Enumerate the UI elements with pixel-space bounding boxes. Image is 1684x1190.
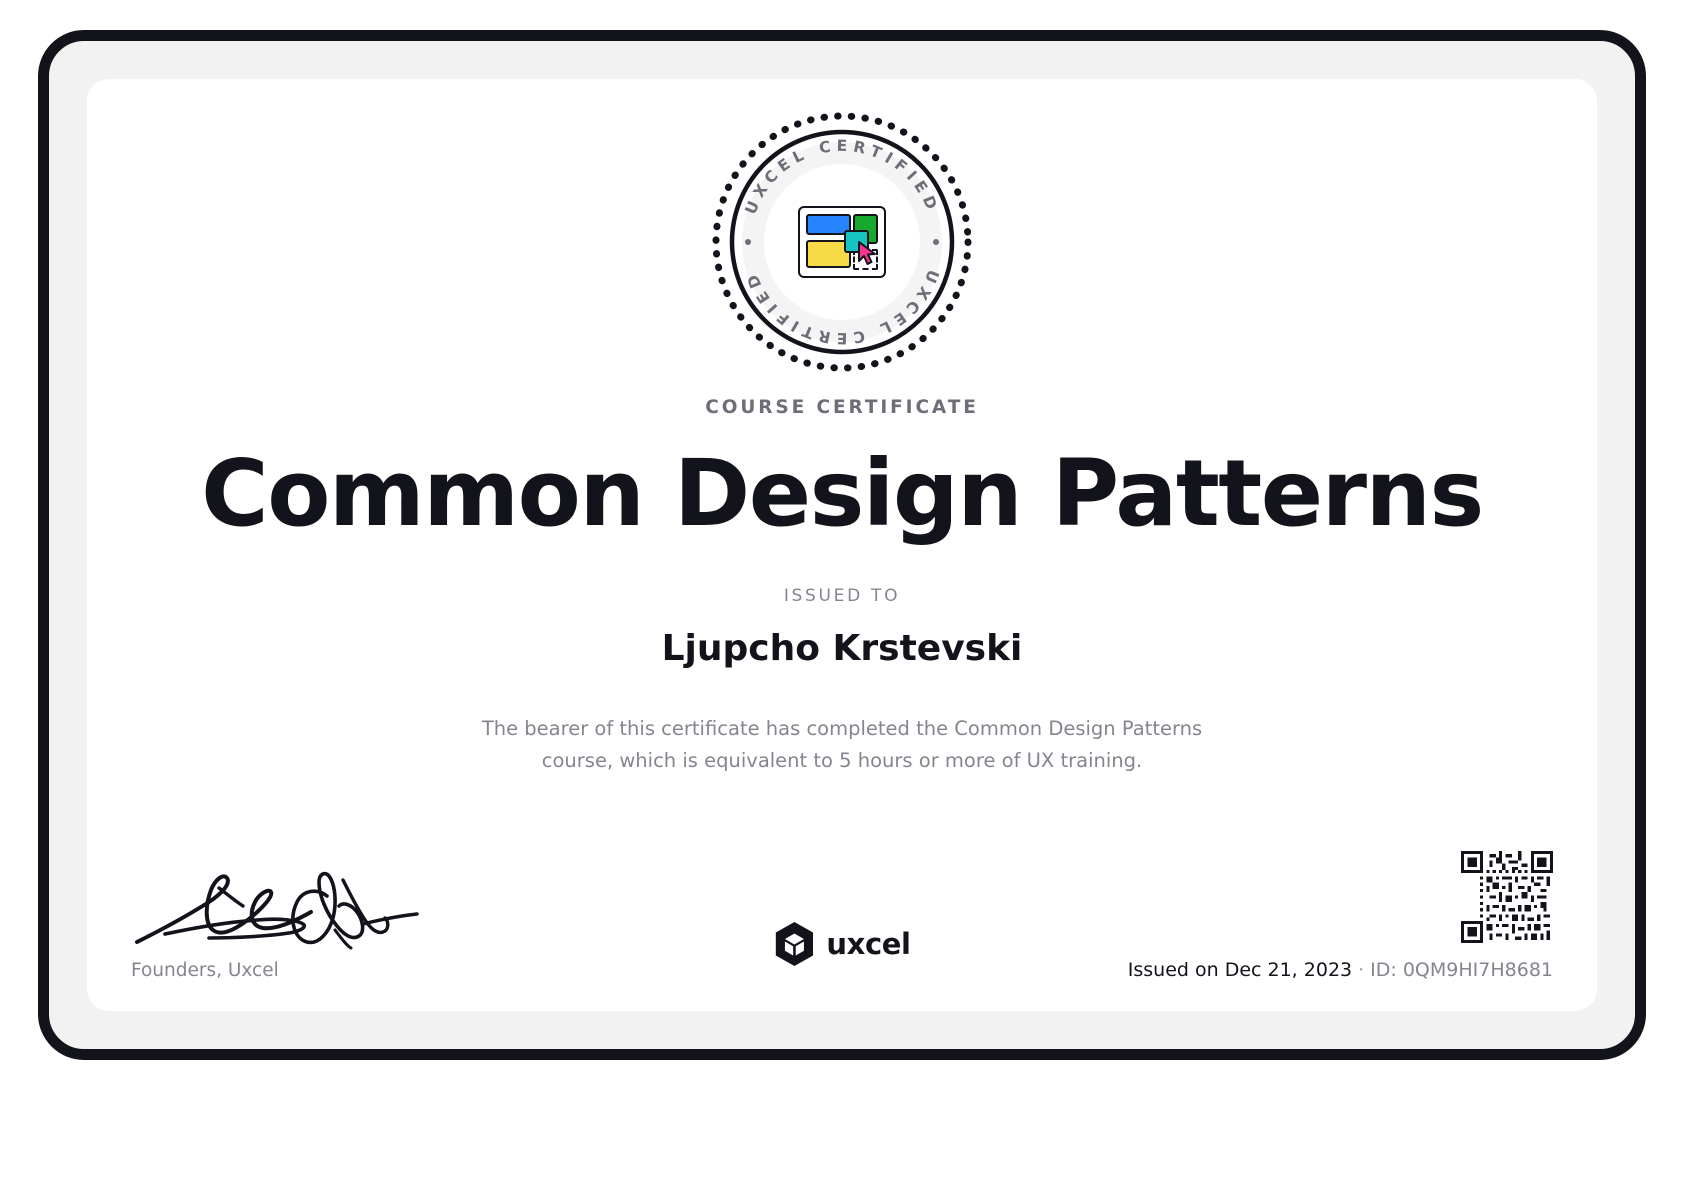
qr-code-icon	[1461, 851, 1553, 943]
signature-marks	[131, 868, 551, 950]
uxcel-cube-logo	[773, 921, 815, 967]
certificate-frame: UXCEL CERTIFIED UXCEL CERTIFIED	[38, 30, 1646, 1060]
signature-block: Founders, Uxcel	[131, 868, 551, 981]
certificate-description: The bearer of this certificate has compl…	[462, 713, 1222, 778]
issued-on-text: Issued on Dec 21, 2023	[1128, 959, 1352, 981]
recipient-name: Ljupcho Krstevski	[87, 628, 1597, 669]
signature-caption: Founders, Uxcel	[131, 960, 551, 981]
certificate-root: UXCEL CERTIFIED UXCEL CERTIFIED	[0, 0, 1684, 1190]
issued-to-label: ISSUED TO	[87, 586, 1597, 606]
uxcel-brand: uxcel	[773, 921, 910, 967]
certificate-kicker: COURSE CERTIFICATE	[87, 397, 1597, 418]
certificate-body: COURSE CERTIFICATE Common Design Pattern…	[87, 397, 1597, 777]
verification-qr-code[interactable]	[1461, 851, 1553, 943]
certificate-id: ID: 0QM9HI7H8681	[1370, 959, 1553, 981]
certification-seal: UXCEL CERTIFIED UXCEL CERTIFIED	[709, 109, 975, 375]
meta-separator: ·	[1352, 959, 1370, 981]
ui-window-layout-icon	[798, 206, 886, 278]
course-title: Common Design Patterns	[87, 446, 1597, 542]
uxcel-wordmark: uxcel	[826, 927, 910, 961]
certificate-meta: Issued on Dec 21, 2023·ID: 0QM9HI7H8681	[1128, 851, 1553, 981]
founder-signature-icon	[131, 868, 431, 950]
issue-meta-line: Issued on Dec 21, 2023·ID: 0QM9HI7H8681	[1128, 959, 1553, 981]
certificate-card: UXCEL CERTIFIED UXCEL CERTIFIED	[87, 79, 1597, 1011]
certificate-footer: Founders, Uxcel uxcel	[131, 831, 1553, 981]
